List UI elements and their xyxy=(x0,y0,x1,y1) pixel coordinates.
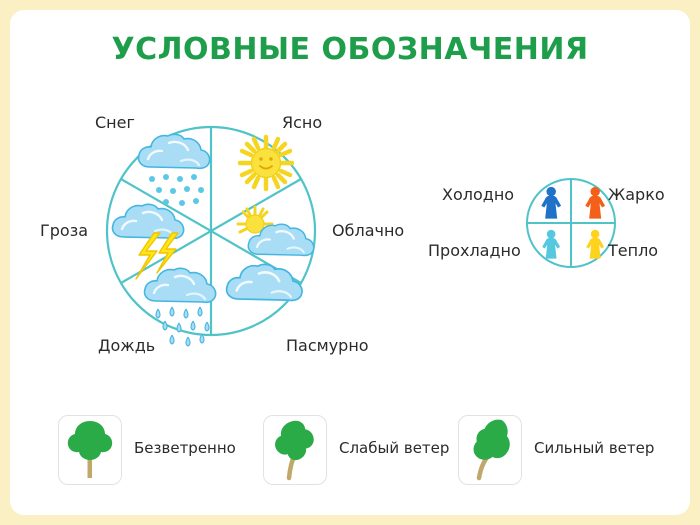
tree-slight-bend-icon xyxy=(263,415,327,485)
wheel-label-overcast: Пасмурно xyxy=(286,336,369,355)
temp-label-warm: Тепло xyxy=(608,241,658,260)
wheel-label-snow: Снег xyxy=(95,113,135,132)
page-title: УСЛОВНЫЕ ОБОЗНАЧЕНИЯ xyxy=(10,32,690,67)
wind-legend-item-strong-wind: Сильный ветер xyxy=(458,415,658,489)
tree-upright-icon xyxy=(58,415,122,485)
temp-label-hot: Жарко xyxy=(608,185,665,204)
weather-conditions-wheel xyxy=(88,95,338,365)
wind-legend-item-calm: Безветренно xyxy=(58,415,258,489)
wheel-label-cloudy: Облачно xyxy=(332,221,404,240)
wind-label-calm: Безветренно xyxy=(134,439,236,457)
wheel-label-thunder: Гроза xyxy=(40,221,88,240)
wind-strength-legend: Безветренно Слабый ветер Сильный ветер xyxy=(58,415,658,495)
wind-legend-item-light-wind: Слабый ветер xyxy=(263,415,453,489)
temp-label-cool: Прохладно xyxy=(428,241,521,260)
wind-label-light-wind: Слабый ветер xyxy=(339,439,449,457)
temp-label-cold: Холодно xyxy=(442,185,514,204)
temp-circle-outline xyxy=(527,179,615,267)
sun-icon xyxy=(240,137,292,189)
wheel-label-rain: Дождь xyxy=(98,336,155,355)
legend-card: УСЛОВНЫЕ ОБОЗНАЧЕНИЯ xyxy=(10,10,690,515)
temperature-quadrant-circle xyxy=(508,165,638,280)
wheel-label-clear: Ясно xyxy=(282,113,322,132)
wind-label-strong-wind: Сильный ветер xyxy=(534,439,654,457)
tree-strong-bend-icon xyxy=(458,415,522,485)
